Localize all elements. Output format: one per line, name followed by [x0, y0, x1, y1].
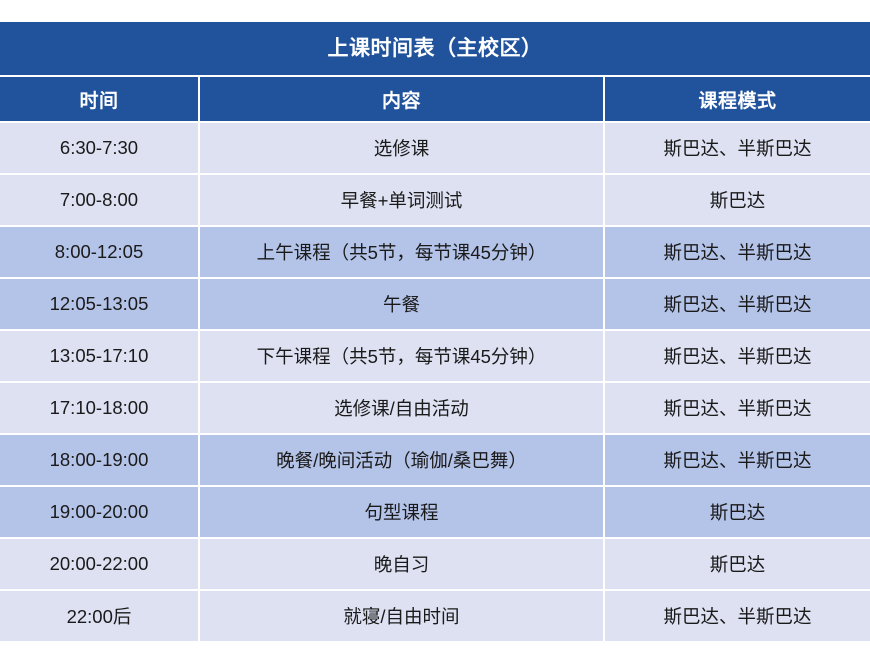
- column-header-mode: 课程模式: [605, 77, 870, 121]
- cell-time: 22:00后: [0, 591, 198, 641]
- cell-mode: 斯巴达、半斯巴达: [605, 123, 870, 173]
- table-row: 12:05-13:05午餐斯巴达、半斯巴达: [0, 277, 870, 329]
- cell-time: 13:05-17:10: [0, 331, 198, 381]
- table-row: 7:00-8:00早餐+单词测试斯巴达: [0, 173, 870, 225]
- cell-time: 7:00-8:00: [0, 175, 198, 225]
- cell-time: 12:05-13:05: [0, 279, 198, 329]
- cell-time: 6:30-7:30: [0, 123, 198, 173]
- table-title: 上课时间表（主校区）: [0, 22, 870, 75]
- schedule-table: 上课时间表（主校区） 时间 内容 课程模式 6:30-7:30选修课斯巴达、半斯…: [0, 22, 870, 641]
- table-row: 18:00-19:00晚餐/晚间活动（瑜伽/桑巴舞）斯巴达、半斯巴达: [0, 433, 870, 485]
- cell-mode: 斯巴达: [605, 175, 870, 225]
- cell-content: 选修课/自由活动: [198, 383, 605, 433]
- column-header-time: 时间: [0, 77, 198, 121]
- cell-content: 选修课: [198, 123, 605, 173]
- table-row: 8:00-12:05上午课程（共5节，每节课45分钟）斯巴达、半斯巴达: [0, 225, 870, 277]
- table-row: 17:10-18:00选修课/自由活动斯巴达、半斯巴达: [0, 381, 870, 433]
- cell-content: 就寝/自由时间: [198, 591, 605, 641]
- column-header-content: 内容: [198, 77, 605, 121]
- table-row: 20:00-22:00晚自习斯巴达: [0, 537, 870, 589]
- table-row: 13:05-17:10下午课程（共5节，每节课45分钟）斯巴达、半斯巴达: [0, 329, 870, 381]
- table-row: 22:00后就寝/自由时间斯巴达、半斯巴达: [0, 589, 870, 641]
- cell-mode: 斯巴达: [605, 539, 870, 589]
- table-body: 6:30-7:30选修课斯巴达、半斯巴达7:00-8:00早餐+单词测试斯巴达8…: [0, 121, 870, 641]
- cell-content: 上午课程（共5节，每节课45分钟）: [198, 227, 605, 277]
- cell-mode: 斯巴达、半斯巴达: [605, 279, 870, 329]
- cell-mode: 斯巴达、半斯巴达: [605, 227, 870, 277]
- cell-time: 20:00-22:00: [0, 539, 198, 589]
- table-row: 19:00-20:00句型课程斯巴达: [0, 485, 870, 537]
- cell-content: 午餐: [198, 279, 605, 329]
- cell-content: 下午课程（共5节，每节课45分钟）: [198, 331, 605, 381]
- cell-mode: 斯巴达、半斯巴达: [605, 383, 870, 433]
- cell-time: 8:00-12:05: [0, 227, 198, 277]
- cell-content: 晚餐/晚间活动（瑜伽/桑巴舞）: [198, 435, 605, 485]
- cell-time: 17:10-18:00: [0, 383, 198, 433]
- cell-time: 18:00-19:00: [0, 435, 198, 485]
- table-row: 6:30-7:30选修课斯巴达、半斯巴达: [0, 121, 870, 173]
- cell-content: 早餐+单词测试: [198, 175, 605, 225]
- cell-content: 句型课程: [198, 487, 605, 537]
- table-header-row: 时间 内容 课程模式: [0, 75, 870, 121]
- cell-mode: 斯巴达、半斯巴达: [605, 591, 870, 641]
- cell-mode: 斯巴达: [605, 487, 870, 537]
- cell-content: 晚自习: [198, 539, 605, 589]
- cell-mode: 斯巴达、半斯巴达: [605, 435, 870, 485]
- cell-time: 19:00-20:00: [0, 487, 198, 537]
- cell-mode: 斯巴达、半斯巴达: [605, 331, 870, 381]
